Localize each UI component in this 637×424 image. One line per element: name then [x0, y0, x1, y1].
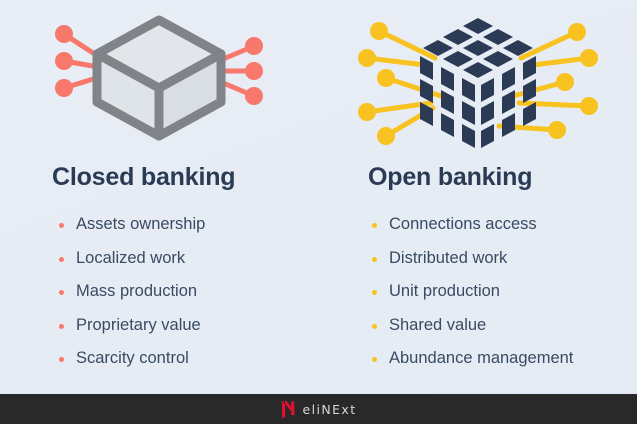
bullet-dot-icon [372, 290, 377, 295]
bullet-dot-icon [59, 290, 64, 295]
open-cube-icon [319, 8, 637, 154]
list-item: Scarcity control [58, 342, 205, 376]
list-item-label: Assets ownership [76, 215, 205, 233]
footer-bar: eliNExt [0, 394, 637, 424]
page-title-open: Open banking [368, 163, 532, 192]
list-item: Localized work [58, 242, 205, 276]
list-item: Proprietary value [58, 309, 205, 343]
feature-list-open: Connections access Distributed work Unit… [371, 208, 573, 376]
bullet-dot-icon [372, 223, 377, 228]
list-item: Assets ownership [58, 208, 205, 242]
list-item: Abundance management [371, 342, 573, 376]
bullet-dot-icon [372, 257, 377, 262]
bullet-dot-icon [59, 223, 64, 228]
closed-cube-icon [0, 8, 318, 154]
elinext-monogram-icon [281, 401, 296, 418]
list-item-label: Proprietary value [76, 316, 201, 334]
column-open-banking: Open banking Connections access Distribu… [319, 0, 637, 394]
list-item-label: Abundance management [389, 349, 573, 367]
page-title-closed: Closed banking [52, 163, 235, 192]
list-item-label: Scarcity control [76, 349, 189, 367]
brand-logo: eliNExt [281, 394, 357, 424]
bullet-dot-icon [59, 257, 64, 262]
list-item: Distributed work [371, 242, 573, 276]
list-item-label: Distributed work [389, 249, 507, 267]
bullet-dot-icon [59, 357, 64, 362]
list-item-label: Unit production [389, 282, 500, 300]
bullet-dot-icon [59, 324, 64, 329]
list-item-label: Shared value [389, 316, 486, 334]
brand-name: eliNExt [303, 402, 357, 417]
list-item-label: Mass production [76, 282, 197, 300]
feature-list-closed: Assets ownership Localized work Mass pro… [58, 208, 205, 376]
list-item: Shared value [371, 309, 573, 343]
list-item: Connections access [371, 208, 573, 242]
column-closed-banking: Closed banking Assets ownership Localize… [0, 0, 318, 394]
list-item: Mass production [58, 275, 205, 309]
list-item-label: Localized work [76, 249, 185, 267]
list-item: Unit production [371, 275, 573, 309]
list-item-label: Connections access [389, 215, 537, 233]
infographic-canvas: Closed banking Assets ownership Localize… [0, 0, 637, 424]
bullet-dot-icon [372, 324, 377, 329]
bullet-dot-icon [372, 357, 377, 362]
